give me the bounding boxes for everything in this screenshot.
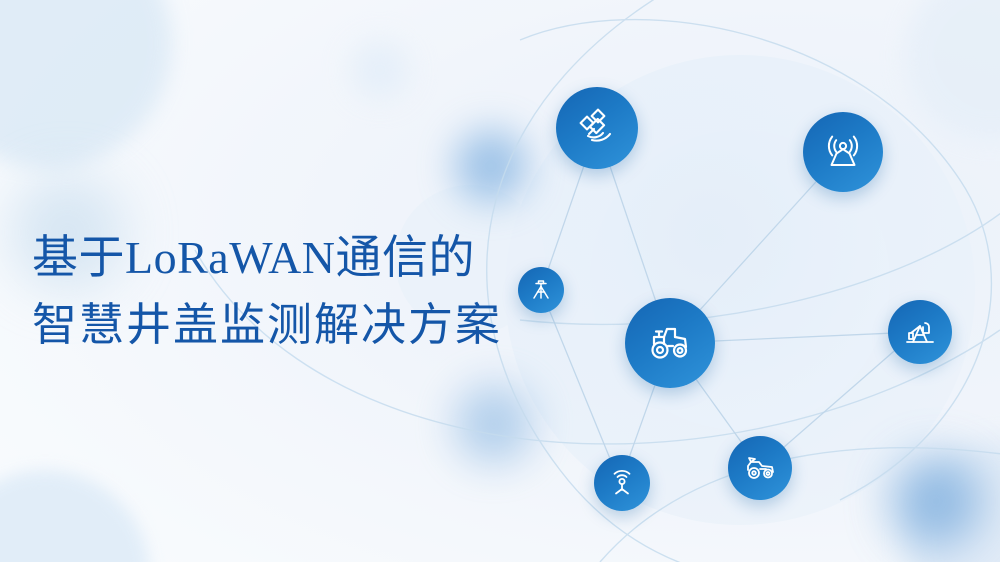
title-line-2: 智慧井盖监测解决方案 (32, 288, 592, 362)
wireless-sensor-icon (605, 466, 639, 500)
node-harvester[interactable] (728, 436, 792, 500)
node-antenna[interactable] (803, 112, 883, 192)
title-line-1: 基于LoRaWAN通信的 (32, 228, 592, 288)
node-pumpjack[interactable] (888, 300, 952, 364)
node-satellite[interactable] (556, 87, 638, 169)
tractor-icon (644, 317, 696, 369)
title-block: 基于LoRaWAN通信的 智慧井盖监测解决方案 (32, 228, 592, 362)
node-sensor[interactable] (594, 455, 650, 511)
node-tractor[interactable] (625, 298, 715, 388)
satellite-icon (574, 105, 620, 151)
radio-tower-icon (820, 129, 866, 175)
presentation-slide: 基于LoRaWAN通信的 智慧井盖监测解决方案 (0, 0, 1000, 562)
harvester-icon (741, 449, 779, 487)
oil-pumpjack-icon (901, 313, 939, 351)
